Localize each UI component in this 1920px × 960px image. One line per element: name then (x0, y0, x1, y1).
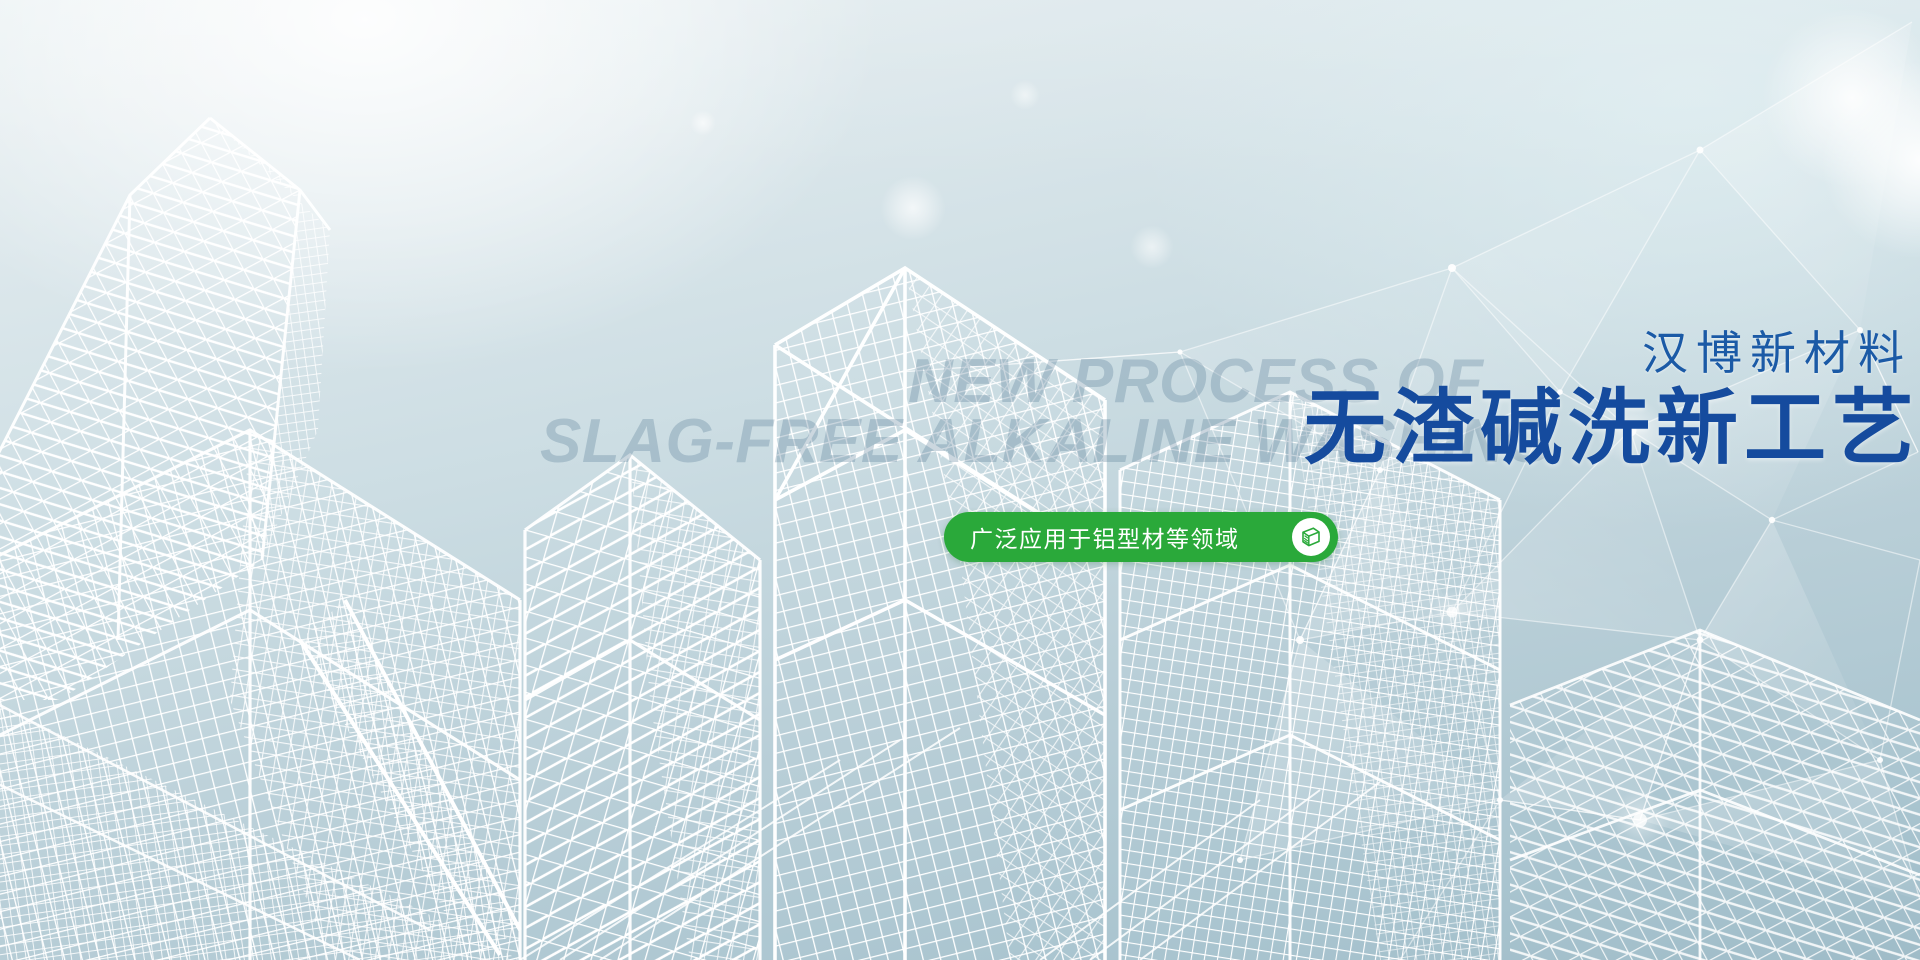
hero-headline: 无渣碱洗新工艺 (1304, 388, 1920, 470)
glow-orb-small (1130, 225, 1174, 269)
brand-name: 汉博新材料 (1642, 330, 1912, 376)
application-badge-label: 广泛应用于铝型材等领域 (970, 520, 1240, 554)
application-badge[interactable]: 广泛应用于铝型材等领域 (944, 512, 1338, 562)
glow-orb-tiny-a (690, 110, 716, 136)
glow-orb-top-right (1820, 60, 1920, 260)
glow-orb-mid (880, 175, 946, 241)
hero-banner: NEW PROCESS OF SLAG-FREE ALKALINE WASHIN… (0, 0, 1920, 960)
hero-copy-block: NEW PROCESS OF SLAG-FREE ALKALINE WASHIN… (540, 330, 1920, 660)
cube-icon (1292, 518, 1330, 556)
glow-orb-tiny-b (1010, 80, 1040, 110)
